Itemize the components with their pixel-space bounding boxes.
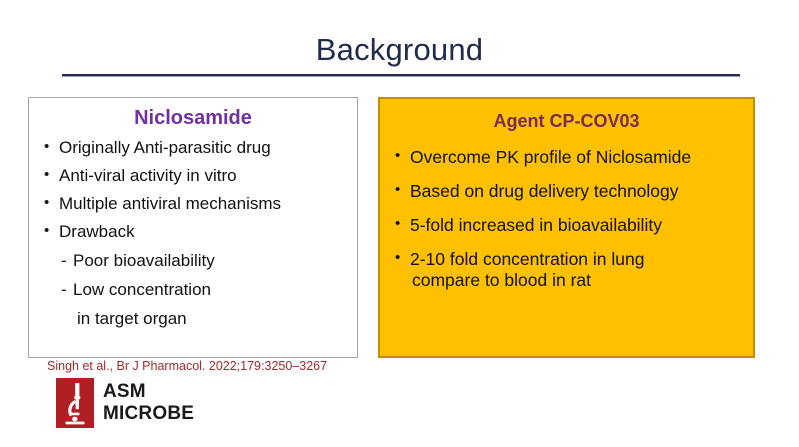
- microscope-icon: [56, 378, 94, 428]
- list-item: compare to blood in rat: [390, 270, 753, 290]
- list-item: Multiple antiviral mechanisms: [39, 194, 357, 214]
- list-item: 5-fold increased in bioavailability: [390, 215, 753, 235]
- list-item: Poor bioavailability: [39, 251, 357, 271]
- logo-line-microbe: MICROBE: [103, 403, 194, 425]
- slide-canvas: Background Niclosamide Originally Anti-p…: [0, 0, 799, 447]
- title-divider: [62, 74, 740, 77]
- panel-right-bullet-list: Overcome PK profile of Niclosamide Based…: [390, 147, 753, 290]
- list-item: Overcome PK profile of Niclosamide: [390, 147, 753, 167]
- panel-niclosamide: Niclosamide Originally Anti-parasitic dr…: [28, 97, 358, 358]
- panel-left-heading: Niclosamide: [29, 106, 357, 130]
- list-item: in target organ: [39, 309, 357, 329]
- list-item: Based on drug delivery technology: [390, 181, 753, 201]
- asm-microbe-logo: ASM MICROBE: [56, 378, 194, 428]
- list-item: Low concentration: [39, 280, 357, 300]
- list-item: Drawback: [39, 222, 357, 242]
- panel-left-bullet-list: Originally Anti-parasitic drug Anti-vira…: [39, 138, 357, 329]
- logo-wordmark: ASM MICROBE: [103, 381, 194, 425]
- page-title: Background: [0, 31, 799, 69]
- panel-right-heading: Agent CP-COV03: [380, 109, 753, 133]
- citation-reference: Singh et al., Br J Pharmacol. 2022;179:3…: [47, 358, 327, 374]
- panel-agent-cp-cov03: Agent CP-COV03 Overcome PK profile of Ni…: [378, 97, 755, 358]
- logo-line-asm: ASM: [103, 381, 194, 403]
- list-item: Anti-viral activity in vitro: [39, 166, 357, 186]
- list-item: 2-10 fold concentration in lung: [390, 249, 753, 269]
- list-item: Originally Anti-parasitic drug: [39, 138, 357, 158]
